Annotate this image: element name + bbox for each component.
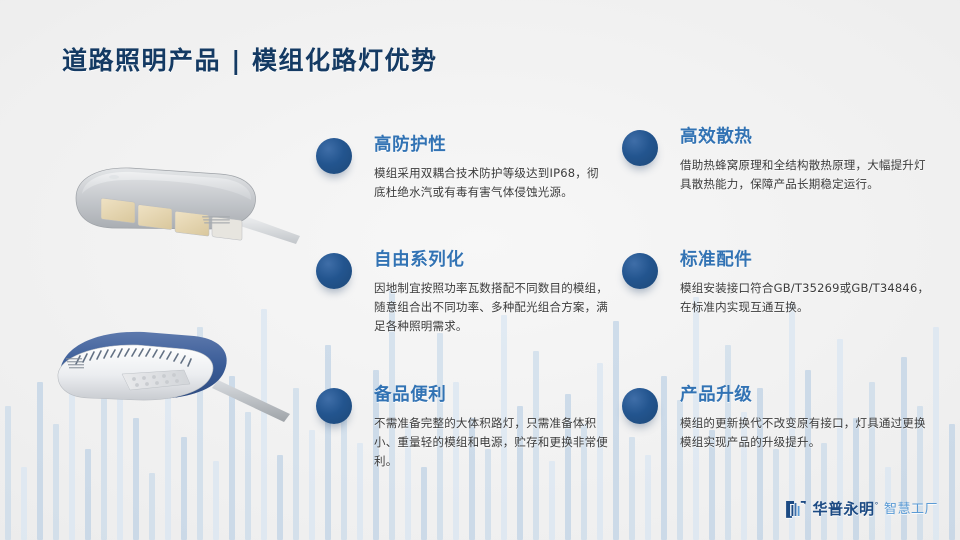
chart-bar [165, 363, 172, 540]
chart-bar [69, 357, 76, 540]
feature-text-block: 高效散热 借助热蜂窝原理和全结构散热原理，大幅提升灯具散热能力，保障产品长期稳定… [680, 128, 935, 194]
chart-bar [549, 461, 556, 540]
logo-sub-text: 智慧工厂 [884, 503, 938, 516]
chart-bar [21, 467, 28, 540]
feature-heading: 备品便利 [374, 386, 609, 405]
bullet-dot-icon [316, 388, 352, 424]
chart-bar [773, 449, 780, 540]
chart-bar [53, 424, 60, 540]
chart-bar [949, 424, 956, 540]
feature-heading: 高效散热 [680, 128, 935, 147]
slide-canvas: 道路照明产品 | 模组化路灯优势 [0, 0, 960, 540]
chart-bar [149, 473, 156, 540]
bullet-dot-icon [622, 253, 658, 289]
street-lamp-module-grey-image [52, 152, 302, 267]
feature-body: 模组采用双耦合技术防护等级达到IP68，彻底杜绝水汽或有毒有害气体侵蚀光源。 [374, 164, 609, 201]
chart-bar [421, 467, 428, 540]
chart-bar [229, 376, 236, 540]
logo-brand-text: 华普永明° [812, 502, 879, 517]
feature-text-block: 备品便利 不需准备完整的大体积路灯，只需准备体积小、重量轻的模组和电源，贮存和更… [374, 386, 609, 470]
logo-mark-icon [785, 500, 807, 518]
feature-text-block: 产品升级 模组的更新换代不改变原有接口，灯具通过更换模组实现产品的升级提升。 [680, 386, 935, 452]
chart-bar [213, 461, 220, 540]
bullet-dot-icon [316, 138, 352, 174]
feature-body: 借助热蜂窝原理和全结构散热原理，大幅提升灯具散热能力，保障产品长期稳定运行。 [680, 156, 935, 193]
chart-bar [629, 437, 636, 540]
feature-body: 不需准备完整的大体积路灯，只需准备体积小、重量轻的模组和电源，贮存和更换非常便利… [374, 414, 609, 470]
feature-body: 模组的更新换代不改变原有接口，灯具通过更换模组实现产品的升级提升。 [680, 414, 935, 451]
bullet-dot-icon [622, 130, 658, 166]
chart-bar [309, 430, 316, 540]
chart-bar [357, 443, 364, 540]
chart-bar [133, 418, 140, 540]
feature-body: 因地制宜按照功率瓦数搭配不同数目的模组，随意组合出不同功率、多种配光组合方案，满… [374, 279, 609, 335]
chart-bar [821, 443, 828, 540]
page-title: 道路照明产品 | 模组化路灯优势 [62, 41, 438, 77]
chart-bar [261, 309, 268, 540]
feature-text-block: 高防护性 模组采用双耦合技术防护等级达到IP68，彻底杜绝水汽或有毒有害气体侵蚀… [374, 136, 609, 202]
street-lamp-white-blue-image [26, 318, 296, 430]
chart-bar [277, 455, 284, 540]
chart-bar [325, 345, 332, 540]
feature-heading: 标准配件 [680, 251, 935, 270]
chart-bar [117, 394, 124, 540]
chart-bar [37, 382, 44, 540]
chart-bar [85, 449, 92, 540]
chart-bar [661, 376, 668, 540]
company-logo: 华普永明° 智慧工厂 [785, 500, 938, 518]
chart-bar [197, 327, 204, 540]
feature-heading: 自由系列化 [374, 251, 609, 270]
bullet-dot-icon [316, 253, 352, 289]
chart-bar [245, 412, 252, 540]
chart-bar [181, 437, 188, 540]
chart-bar [645, 455, 652, 540]
bullet-dot-icon [622, 388, 658, 424]
chart-bar [5, 406, 12, 540]
chart-bar [613, 321, 620, 540]
feature-body: 模组安装接口符合GB/T35269或GB/T34846，在标准内实现互通互换。 [680, 279, 935, 316]
feature-heading: 高防护性 [374, 136, 609, 155]
chart-bar [293, 388, 300, 540]
feature-text-block: 标准配件 模组安装接口符合GB/T35269或GB/T34846，在标准内实现互… [680, 251, 935, 317]
feature-text-block: 自由系列化 因地制宜按照功率瓦数搭配不同数目的模组，随意组合出不同功率、多种配光… [374, 251, 609, 335]
chart-bar [101, 339, 108, 540]
feature-heading: 产品升级 [680, 386, 935, 405]
